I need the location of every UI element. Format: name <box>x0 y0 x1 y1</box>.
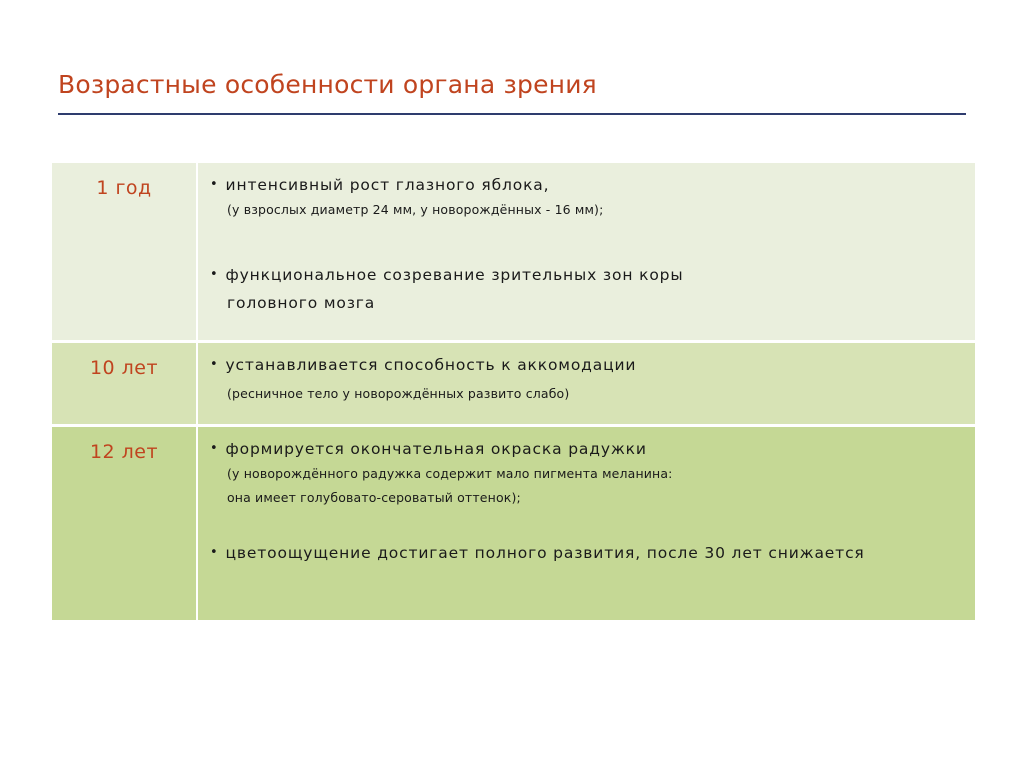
age-features-table: 1 год • интенсивный рост глазного яблока… <box>52 163 975 620</box>
bullet-icon: • <box>210 172 219 198</box>
title-divider-rule <box>58 113 966 115</box>
bullet-icon: • <box>210 540 219 566</box>
list-item: • интенсивный рост глазного яблока, <box>210 172 965 198</box>
table-row: 10 лет • устанавливается способность к а… <box>52 340 975 424</box>
list-item-subnote: (у новорождённого радужка содержит мало … <box>210 462 965 486</box>
list-item: • формируется окончательная окраска раду… <box>210 436 965 462</box>
row-content-cell: • устанавливается способность к аккомода… <box>198 343 975 424</box>
bullet-icon: • <box>210 262 219 288</box>
list-item-subnote: (ресничное тело у новорождённых развито … <box>210 382 965 406</box>
row-content-cell: • интенсивный рост глазного яблока, (у в… <box>198 163 975 340</box>
age-label: 1 год <box>96 177 151 199</box>
bullet-icon: • <box>210 436 219 462</box>
spacer <box>210 510 965 540</box>
table-row: 1 год • интенсивный рост глазного яблока… <box>52 163 975 340</box>
list-item-subnote: она имеет голубовато-сероватый оттенок); <box>210 486 965 510</box>
list-item-subnote: (у взрослых диаметр 24 мм, у новорождённ… <box>210 198 965 222</box>
age-label: 10 лет <box>90 357 158 379</box>
title-area: Возрастные особенности органа зрения <box>58 68 968 118</box>
list-item-continuation: головного мозга <box>210 288 965 318</box>
row-label-cell: 12 лет <box>52 427 198 620</box>
table-row: 12 лет • формируется окончательная окрас… <box>52 424 975 620</box>
list-item: • функциональное созревание зрительных з… <box>210 262 965 288</box>
list-item-text: интенсивный рост глазного яблока, <box>226 172 965 198</box>
page-title: Возрастные особенности органа зрения <box>58 68 968 102</box>
spacer <box>210 222 965 262</box>
list-item-text: функциональное созревание зрительных зон… <box>226 262 965 288</box>
row-content-cell: • формируется окончательная окраска раду… <box>198 427 975 620</box>
bullet-icon: • <box>210 352 219 378</box>
age-label: 12 лет <box>90 441 158 463</box>
list-item-text: формируется окончательная окраска радужк… <box>226 436 965 462</box>
list-item-text: цветоощущение достигает полного развития… <box>226 540 965 566</box>
list-item: • цветоощущение достигает полного развит… <box>210 540 965 566</box>
slide-root: Возрастные особенности органа зрения 1 г… <box>0 0 1024 767</box>
list-item: • устанавливается способность к аккомода… <box>210 352 965 378</box>
row-label-cell: 1 год <box>52 163 198 340</box>
list-item-text: устанавливается способность к аккомодаци… <box>226 352 965 378</box>
row-label-cell: 10 лет <box>52 343 198 424</box>
